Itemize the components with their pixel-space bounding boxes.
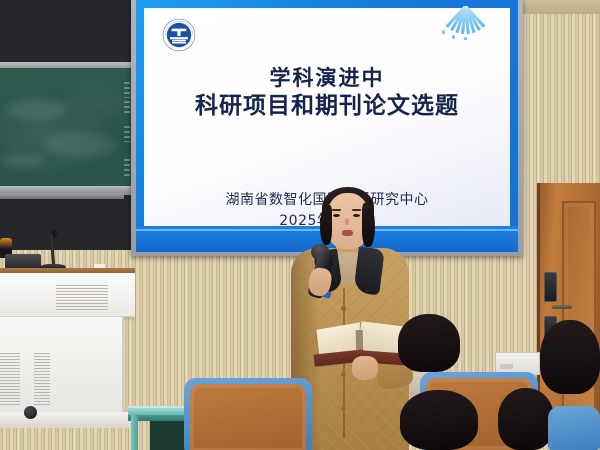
audience-member-far-right [498,388,554,450]
door-handle[interactable] [552,305,572,309]
blue-striped-fan-decoration [436,6,492,40]
presenter-hand-right [352,356,378,380]
slide-title-line1: 学科演进中 [144,66,510,92]
presenter-hair-left [320,205,332,245]
wall-top-trim [520,0,600,14]
lectern-podium-upper [0,273,135,317]
chalkboard-ledge [0,193,124,199]
university-emblem-logo [162,18,196,52]
electronic-door-lock-upper[interactable] [544,272,557,302]
presenter-mouth [342,230,353,236]
slide-content-area: 学科演进中 科研项目和期刊论文选题 湖南省数智化国际传播研究中心 2025年 月… [144,8,510,226]
audience-member-right [540,320,600,394]
green-chalkboard [0,68,134,188]
podium-speaker-grille [56,285,108,310]
presenter-collar-right [353,247,384,296]
presenter-hair-right [362,203,375,247]
seat-back-left [190,384,306,450]
lectern-podium-body [0,317,124,427]
desk-leg [131,414,138,450]
podium-vent-right [34,353,50,405]
chalkboard-magnet-strip [124,76,131,176]
lecture-hall-scene: 学科演进中 科研项目和期刊论文选题 湖南省数智化国际传播研究中心 2025年 月… [0,0,600,450]
audience-member-left [398,314,460,372]
wooden-door[interactable] [537,183,600,433]
lectern-podium-base [0,412,135,428]
audience-member-center [400,390,478,450]
podium-cable-port [24,406,37,419]
seat-back-far-right-rim [548,406,600,450]
podium-vent-left [0,353,20,405]
slide-title-line2: 科研项目和期刊论文选题 [144,92,510,120]
slide-title: 学科演进中 科研项目和期刊论文选题 [144,66,510,120]
